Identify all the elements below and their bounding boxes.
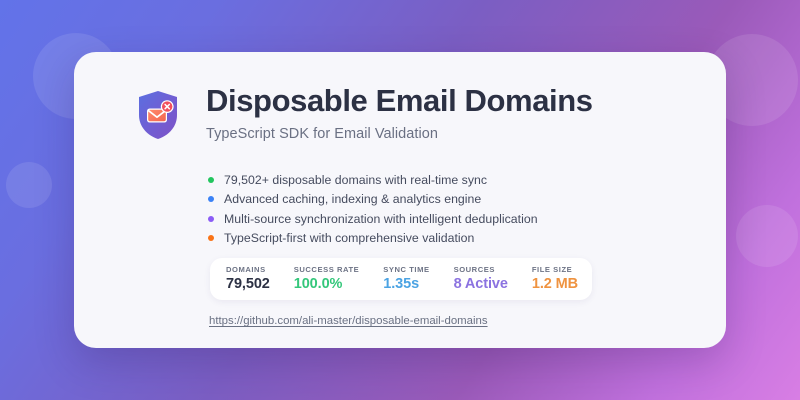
stat-value: 1.35s [383, 277, 429, 292]
feature-typescript-first: TypeScript-first with comprehensive vali… [208, 229, 538, 249]
stat-label: FILE SIZE [532, 266, 578, 274]
stat-sources: SOURCES 8 Active [454, 266, 508, 291]
stat-file-size: FILE SIZE 1.2 MB [532, 266, 578, 291]
decorative-circle-mid-right [736, 205, 798, 267]
stat-sync-time: SYNC TIME 1.35s [383, 266, 429, 291]
decorative-circle-mid-left [6, 162, 52, 208]
stat-value: 79,502 [226, 277, 270, 292]
feature-caching-analytics: Advanced caching, indexing & analytics e… [208, 190, 538, 210]
stat-label: SOURCES [454, 266, 508, 274]
feature-label: Multi-source synchronization with intell… [224, 212, 538, 226]
feature-label: 79,502+ disposable domains with real-tim… [224, 173, 487, 187]
stat-value: 100.0% [294, 277, 360, 292]
stat-value: 8 Active [454, 277, 508, 292]
page-title: Disposable Email Domains [206, 85, 593, 118]
shield-envelope-blocked-icon [136, 90, 180, 140]
stat-value: 1.2 MB [532, 277, 578, 292]
feature-label: Advanced caching, indexing & analytics e… [224, 192, 481, 206]
feature-multi-source-sync: Multi-source synchronization with intell… [208, 209, 538, 229]
stat-label: DOMAINS [226, 266, 270, 274]
feature-list: 79,502+ disposable domains with real-tim… [208, 170, 538, 248]
bullet-dot-blue [208, 196, 214, 202]
stat-success-rate: SUCCESS RATE 100.0% [294, 266, 360, 291]
bullet-dot-green [208, 177, 214, 183]
stats-bar: DOMAINS 79,502 SUCCESS RATE 100.0% SYNC … [210, 258, 592, 300]
bullet-dot-purple [208, 216, 214, 222]
feature-realtime-sync: 79,502+ disposable domains with real-tim… [208, 170, 538, 190]
title-block: Disposable Email Domains TypeScript SDK … [206, 85, 593, 142]
card-header: Disposable Email Domains TypeScript SDK … [136, 85, 593, 142]
stat-label: SYNC TIME [383, 266, 429, 274]
stat-domains: DOMAINS 79,502 [226, 266, 270, 291]
stat-label: SUCCESS RATE [294, 266, 360, 274]
page-subtitle: TypeScript SDK for Email Validation [206, 126, 593, 142]
bullet-dot-orange [208, 235, 214, 241]
banner-background: Disposable Email Domains TypeScript SDK … [0, 0, 800, 400]
repository-link[interactable]: https://github.com/ali-master/disposable… [209, 315, 488, 327]
main-card: Disposable Email Domains TypeScript SDK … [74, 52, 726, 348]
feature-label: TypeScript-first with comprehensive vali… [224, 231, 474, 245]
